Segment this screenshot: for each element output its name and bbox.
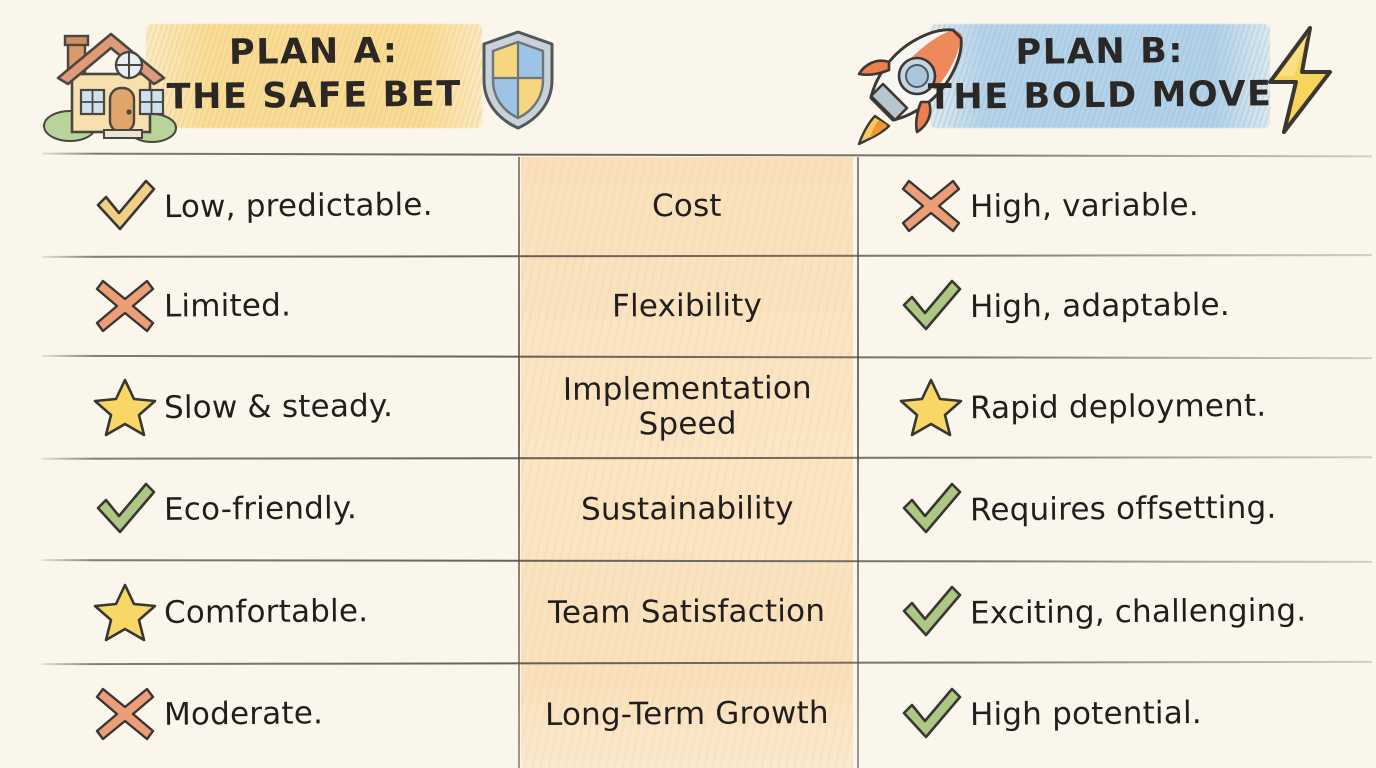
plan-a-value: Eco-friendly. (164, 490, 357, 528)
header: PLAN A: THE SAFE BET (0, 0, 1376, 155)
plan-a-title: PLAN A: THE SAFE BET (114, 28, 515, 120)
plan-a-cell: Low, predictable. (42, 157, 518, 255)
plan-a-cell: Moderate. (42, 664, 518, 764)
plan-b-cell: High potential. (862, 664, 1362, 764)
criterion-line1: Long-Term Growth (545, 695, 829, 733)
table-row: Comfortable. Team Satisfaction Exciting,… (0, 562, 1376, 662)
plan-a-value: Comfortable. (164, 593, 369, 631)
plan-b-value: Requires offsetting. (970, 490, 1277, 529)
check-icon (892, 685, 970, 743)
check-icon (892, 480, 970, 538)
cross-icon (86, 685, 164, 743)
plan-b-value: High, variable. (970, 187, 1199, 225)
check-icon (892, 277, 970, 335)
criterion-cell: Flexibility (521, 257, 853, 355)
star-icon (86, 582, 164, 642)
criterion-cell: Team Satisfaction (521, 562, 853, 662)
cross-icon (892, 177, 970, 235)
criterion-cell: Cost (521, 157, 853, 255)
criterion-line1: Team Satisfaction (548, 593, 825, 631)
plan-b-title: PLAN B: THE BOLD MOVE (900, 28, 1301, 120)
criterion-label: Cost (652, 188, 722, 223)
plan-a-title-line1: PLAN A: (229, 31, 399, 73)
criterion-label: Flexibility (612, 288, 762, 324)
plan-b-cell: Requires offsetting. (862, 459, 1362, 559)
plan-b-title-line2: THE BOLD MOVE (900, 72, 1300, 120)
plan-b-value: High, adaptable. (970, 287, 1230, 325)
criterion-cell: Long-Term Growth (521, 664, 853, 764)
criterion-label: Long-Term Growth (545, 696, 829, 733)
plan-a-value: Limited. (164, 287, 291, 324)
criterion-line1: Flexibility (612, 287, 762, 324)
check-icon (86, 480, 164, 538)
plan-b-title-line1: PLAN B: (1015, 31, 1184, 73)
check-icon (86, 177, 164, 235)
criterion-line1: Sustainability (581, 490, 794, 527)
plan-a-cell: Limited. (42, 257, 518, 355)
criterion-line1: Cost (652, 187, 722, 223)
star-icon (86, 377, 164, 437)
plan-a-cell: Comfortable. (42, 562, 518, 662)
plan-a-cell: Slow & steady. (42, 358, 518, 456)
criterion-label: Team Satisfaction (548, 594, 825, 631)
plan-b-cell: High, variable. (862, 157, 1362, 255)
criterion-line2: Speed (563, 406, 812, 442)
comparison-infographic: PLAN A: THE SAFE BET (0, 0, 1376, 768)
plan-a-value: Slow & steady. (164, 388, 393, 426)
plan-a-value: Low, predictable. (164, 187, 433, 225)
table-row: Eco-friendly. Sustainability Requires of… (0, 459, 1376, 559)
check-icon (892, 583, 970, 641)
plan-b-cell: High, adaptable. (862, 257, 1362, 355)
star-icon (892, 377, 970, 437)
table-row: Moderate. Long-Term Growth High potentia… (0, 664, 1376, 764)
criterion-label: Implementation Speed (562, 371, 811, 442)
plan-a-value: Moderate. (164, 695, 323, 732)
plan-a-title-line2: THE SAFE BET (114, 72, 514, 120)
plan-b-cell: Rapid deployment. (862, 358, 1362, 456)
table-row: Limited. Flexibility High, adaptable. (0, 257, 1376, 355)
plan-b-value: Exciting, challenging. (970, 593, 1307, 632)
criterion-line1: Implementation (562, 370, 811, 408)
plan-b-value: High potential. (970, 695, 1202, 733)
table-row: Low, predictable. Cost High, variable. (0, 157, 1376, 255)
plan-b-value: Rapid deployment. (970, 388, 1267, 427)
cross-icon (86, 277, 164, 335)
criterion-cell: Implementation Speed (521, 358, 853, 456)
criterion-cell: Sustainability (521, 459, 853, 559)
criterion-label: Sustainability (581, 491, 794, 527)
plan-a-cell: Eco-friendly. (42, 459, 518, 559)
plan-b-cell: Exciting, challenging. (862, 562, 1362, 662)
table-row: Slow & steady. Implementation Speed Rapi… (0, 358, 1376, 456)
